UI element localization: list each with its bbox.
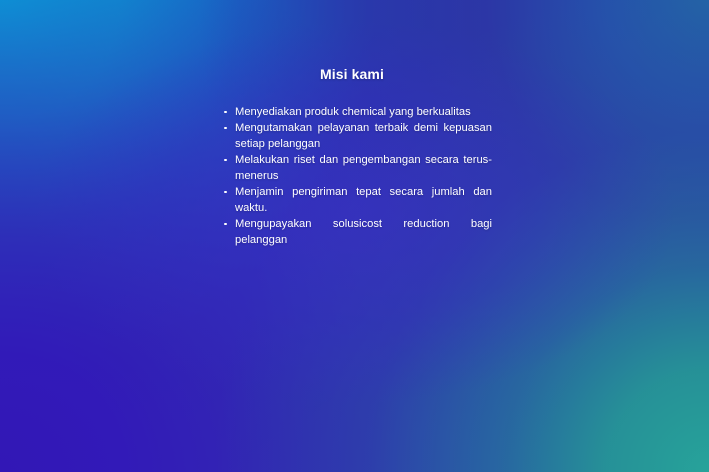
list-item-text: Menyediakan produk chemical yang berkual… [235,106,471,118]
bullet-dot-icon [224,111,227,114]
list-item-text: Melakukan riset dan pengembangan secara … [235,154,492,182]
bullet-dot-icon [224,191,227,194]
list-item-text: Mengupayakan solusicost reduction bagi p… [235,218,492,246]
list-item: Menjamin pengiriman tepat secara jumlah … [212,184,492,216]
mission-bullet-list: Menyediakan produk chemical yang berkual… [212,104,492,248]
presentation-slide: Misi kami Menyediakan produk chemical ya… [0,0,709,472]
bullet-dot-icon [224,223,227,226]
slide-content: Misi kami Menyediakan produk chemical ya… [212,66,492,248]
list-item: Menyediakan produk chemical yang berkual… [212,104,492,120]
bullet-dot-icon [224,159,227,162]
bullet-dot-icon [224,127,227,130]
list-item: Mengutamakan pelayanan terbaik demi kepu… [212,120,492,152]
list-item: Mengupayakan solusicost reduction bagi p… [212,216,492,248]
list-item-text: Mengutamakan pelayanan terbaik demi kepu… [235,122,492,150]
list-item: Melakukan riset dan pengembangan secara … [212,152,492,184]
list-item-text: Menjamin pengiriman tepat secara jumlah … [235,186,492,214]
slide-title: Misi kami [212,66,492,82]
